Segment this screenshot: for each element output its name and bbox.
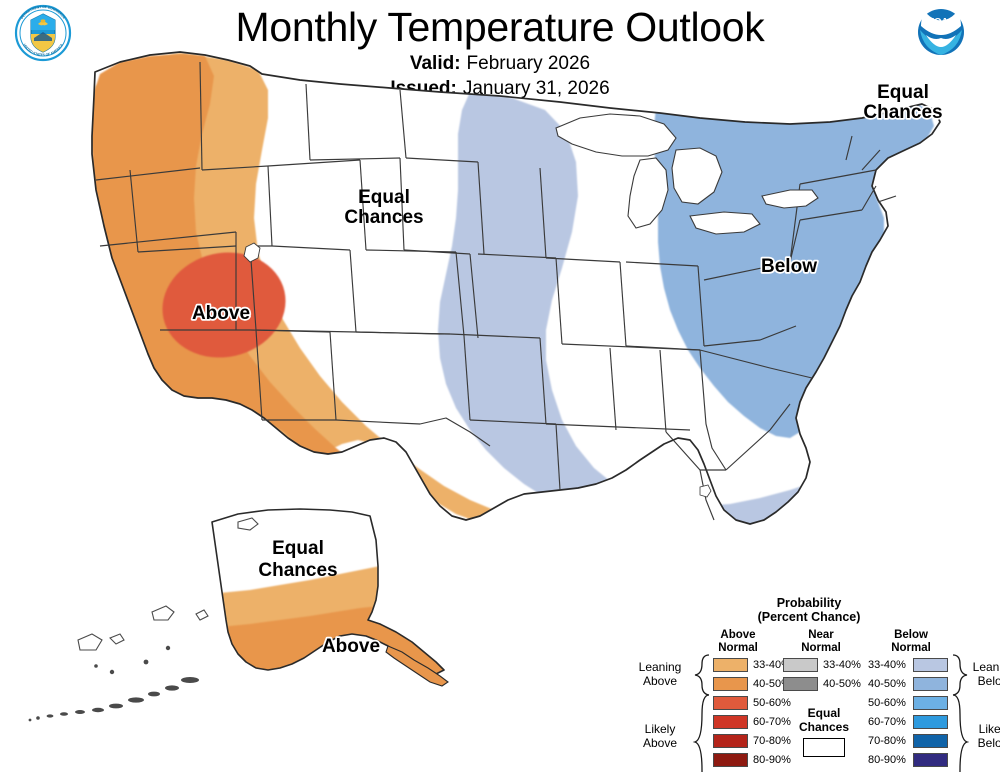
leaning-above-line2: Above [643,674,677,688]
bracket-leaning-below-icon [951,654,969,696]
conus-probability-fills [60,40,960,540]
legend-equal-chances-box[interactable] [803,738,845,757]
leaning-below-line2: Below [978,674,1000,688]
legend: Probability (Percent Chance) Above Norma… [625,596,993,772]
legend-title-line1: Probability [777,596,842,610]
below-head-line2: Normal [891,642,931,654]
lake-okeechobee [700,485,711,497]
legend-label-below-60-70: 60-70% [868,715,906,729]
legend-title-line2: (Percent Chance) [758,610,861,624]
legend-label-below-80-90: 80-90% [868,753,906,767]
near-head-line2: Normal [801,642,841,654]
label-conus-above: Above [192,303,250,324]
leaning-above-line1: Leaning [639,660,682,674]
near-head-line1: Near [808,629,834,641]
legend-column-header-near: Near Normal [785,629,857,654]
legend-label-near-40-50: 40-50% [823,677,861,691]
legend-swatch-above-70-80[interactable] [713,734,748,748]
likely-above-line2: Above [643,736,677,750]
label-northeast-equal-chances-line2: Chances [863,102,942,123]
legend-column-header-below: Below Normal [875,629,947,654]
bracket-likely-above-icon [693,694,711,772]
legend-label-below-70-80: 70-80% [868,734,906,748]
temperature-outlook-page: DEPARTMENT OF COMMERCE UNITED STATES OF … [0,0,1000,772]
legend-bracket-likely-above: Likely Above [629,722,691,750]
legend-swatch-below-80-90[interactable] [913,753,948,767]
label-northeast-equal-chances-line1: Equal [877,82,929,103]
above-head-line1: Above [720,629,755,641]
legend-ec-line1: Equal [808,706,841,720]
legend-swatch-below-33-40[interactable] [913,658,948,672]
label-conus-below: Below [761,256,817,277]
label-conus-equal-chances-line1: Equal [358,187,410,208]
legend-swatch-below-70-80[interactable] [913,734,948,748]
legend-swatch-above-80-90[interactable] [713,753,748,767]
legend-label-above-80-90: 80-90% [753,753,791,767]
legend-label-below-40-50: 40-50% [868,677,906,691]
above-head-line2: Normal [718,642,758,654]
legend-label-above-70-80: 70-80% [753,734,791,748]
legend-ec-line2: Chances [799,720,849,734]
label-alaska-above: Above [322,636,380,657]
leaning-below-line1: Leaning [973,660,1000,674]
label-alaska-equal-chances-line1: Equal [272,538,324,559]
likely-below-line2: Below [978,736,1000,750]
legend-swatch-above-40-50[interactable] [713,677,748,691]
legend-equal-chances-text: Equal Chances [785,706,863,734]
legend-label-below-33-40: 33-40% [868,658,906,672]
bracket-likely-below-icon [951,694,969,772]
aleutian-islands [29,646,199,722]
legend-swatch-below-40-50[interactable] [913,677,948,691]
legend-column-header-above: Above Normal [703,629,773,654]
legend-bracket-leaning-above: Leaning Above [629,660,691,688]
below-head-line1: Below [894,629,928,641]
legend-swatch-above-50-60[interactable] [713,696,748,710]
legend-swatch-below-50-60[interactable] [913,696,948,710]
legend-swatch-near-40-50[interactable] [783,677,818,691]
label-alaska-equal-chances-line2: Chances [258,560,337,581]
legend-swatch-above-33-40[interactable] [713,658,748,672]
legend-label-below-50-60: 50-60% [868,696,906,710]
legend-swatch-below-60-70[interactable] [913,715,948,729]
likely-above-line1: Likely [645,722,676,736]
legend-swatch-near-33-40[interactable] [783,658,818,672]
legend-swatch-above-60-70[interactable] [713,715,748,729]
legend-title: Probability (Percent Chance) [625,596,993,624]
bracket-leaning-above-icon [693,654,711,696]
legend-label-near-33-40: 33-40% [823,658,861,672]
likely-below-line1: Likely [979,722,1000,736]
label-conus-equal-chances-line2: Chances [344,207,423,228]
